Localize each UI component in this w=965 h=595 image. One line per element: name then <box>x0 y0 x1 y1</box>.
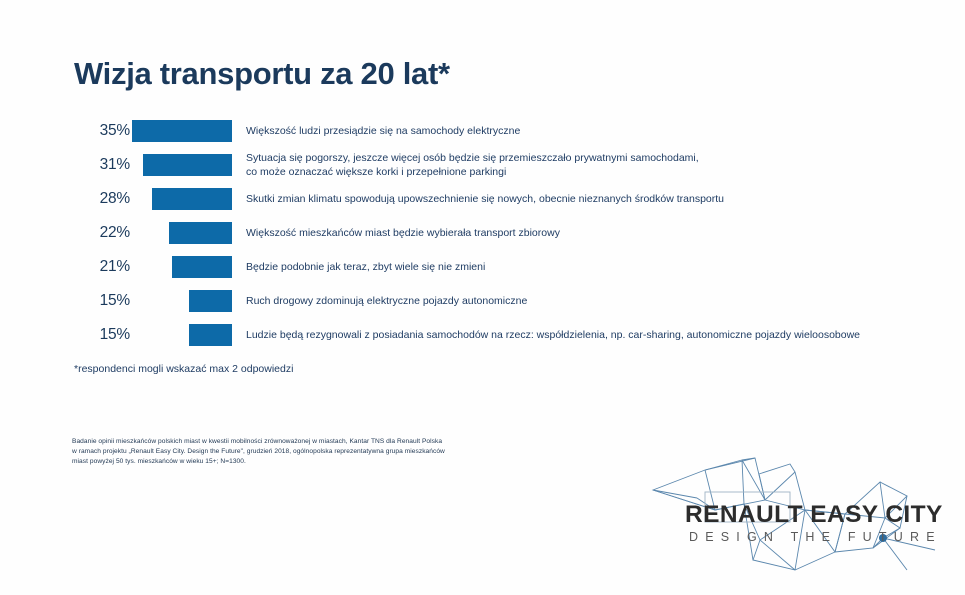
page-title: Wizja transportu za 20 lat* <box>74 56 450 92</box>
bar <box>169 222 232 244</box>
slide-canvas: Wizja transportu za 20 lat* 35%Większość… <box>0 0 965 595</box>
bar-value-wrap: 31% <box>58 148 130 182</box>
chart-row: 21%Będzie podobnie jak teraz, zbyt wiele… <box>0 250 965 284</box>
chart-row: 31%Sytuacja się pogorszy, jeszcze więcej… <box>0 148 965 182</box>
bar-value-wrap: 28% <box>58 182 130 216</box>
bar-value-wrap: 21% <box>58 250 130 284</box>
bar-value-label: 35% <box>100 122 130 140</box>
bar-track <box>132 114 232 148</box>
bar-category-label: Większość mieszkańców miast będzie wybie… <box>246 226 951 240</box>
bar <box>172 256 232 278</box>
chart-row: 22%Większość mieszkańców miast będzie wy… <box>0 216 965 250</box>
bar <box>152 188 232 210</box>
source-note: Badanie opinii mieszkańców polskich mias… <box>72 437 445 467</box>
bar-value-label: 22% <box>100 224 130 242</box>
chart-row: 28%Skutki zmian klimatu spowodują upowsz… <box>0 182 965 216</box>
bar-chart: 35%Większość ludzi przesiądzie się na sa… <box>0 114 965 352</box>
bar-category-label: Większość ludzi przesiądzie się na samoc… <box>246 124 951 138</box>
bar <box>132 120 232 142</box>
bar <box>189 324 232 346</box>
bar-track <box>132 318 232 352</box>
chart-footnote: *respondenci mogli wskazać max 2 odpowie… <box>74 363 293 375</box>
bar-value-wrap: 35% <box>58 114 130 148</box>
logo-network-graphic <box>645 452 945 577</box>
bar <box>189 290 232 312</box>
bar-value-label: 21% <box>100 258 130 276</box>
bar-track <box>132 250 232 284</box>
bar-track <box>132 216 232 250</box>
bar-track <box>132 182 232 216</box>
chart-row: 15%Ludzie będą rezygnowali z posiadania … <box>0 318 965 352</box>
bar-value-label: 28% <box>100 190 130 208</box>
bar-category-label: Skutki zmian klimatu spowodują upowszech… <box>246 192 951 206</box>
bar-value-wrap: 15% <box>58 318 130 352</box>
renault-easy-city-logo: RENAULT EASY CITY DESIGN THE FUTURE <box>645 452 945 577</box>
bar-value-wrap: 15% <box>58 284 130 318</box>
bar-value-label: 31% <box>100 156 130 174</box>
bar <box>143 154 232 176</box>
chart-row: 35%Większość ludzi przesiądzie się na sa… <box>0 114 965 148</box>
bar-value-label: 15% <box>100 326 130 344</box>
bar-value-label: 15% <box>100 292 130 310</box>
bar-category-label: Sytuacja się pogorszy, jeszcze więcej os… <box>246 151 951 179</box>
bar-category-label: Ludzie będą rezygnowali z posiadania sam… <box>246 328 951 342</box>
bar-track <box>132 284 232 318</box>
bar-track <box>132 148 232 182</box>
bar-category-label: Ruch drogowy zdominują elektryczne pojaz… <box>246 294 951 308</box>
logo-network-node-icon <box>879 534 887 542</box>
bar-category-label: Będzie podobnie jak teraz, zbyt wiele si… <box>246 260 951 274</box>
chart-row: 15%Ruch drogowy zdominują elektryczne po… <box>0 284 965 318</box>
bar-value-wrap: 22% <box>58 216 130 250</box>
